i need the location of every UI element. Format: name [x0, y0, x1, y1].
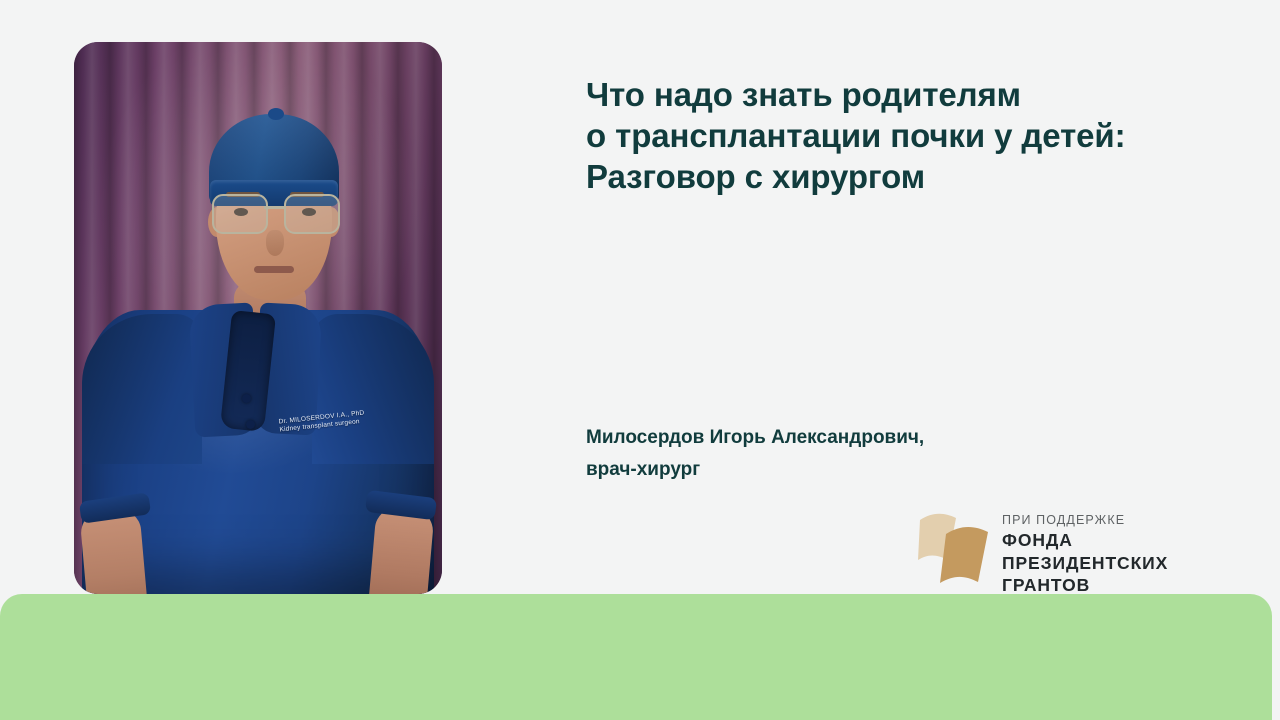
bottom-green-band [0, 594, 1272, 720]
scrubs-shoulder-left [82, 314, 202, 464]
eyeglass-lens-right [284, 194, 340, 234]
speaker-name: Милосердов Игорь Александрович, [586, 422, 1126, 454]
surgical-cap-knot [268, 108, 284, 120]
slide-title-line-2: о трансплантации почки у детей: [586, 115, 1246, 156]
eyeglass-bridge [264, 206, 286, 209]
speaker-portrait: Dr. MILOSERDOV I.A., PhD Kidney transpla… [74, 42, 442, 594]
sponsor-text-block: ПРИ ПОДДЕРЖКЕ ФОНДА ПРЕЗИДЕНТСКИХ ГРАНТО… [1002, 506, 1168, 597]
scrubs-shoulder-right [312, 314, 434, 464]
slide-title-line-1: Что надо знать родителям [586, 74, 1246, 115]
eyeglass-lens-left [212, 194, 268, 234]
eyeglasses [210, 194, 340, 232]
nose [266, 230, 284, 256]
presidential-grants-fund-icon [918, 506, 994, 592]
speaker-photo-card: Dr. MILOSERDOV I.A., PhD Kidney transpla… [74, 42, 442, 594]
sponsor-pretext: ПРИ ПОДДЕРЖКЕ [1002, 512, 1168, 529]
slide-title-line-3: Разговор с хирургом [586, 156, 1246, 197]
slide-canvas: Dr. MILOSERDOV I.A., PhD Kidney transpla… [0, 0, 1280, 720]
speaker-role: врач-хирург [586, 454, 1126, 486]
sponsor-line-2: ПРЕЗИДЕНТСКИХ [1002, 552, 1168, 575]
speaker-byline: Милосердов Игорь Александрович, врач-хир… [586, 422, 1126, 486]
scrubs-button-upper [242, 394, 251, 403]
mouth [254, 266, 294, 273]
sponsor-line-1: ФОНДА [1002, 529, 1168, 552]
scrubs-button-lower [246, 420, 255, 429]
slide-title: Что надо знать родителям о трансплантаци… [586, 74, 1246, 197]
